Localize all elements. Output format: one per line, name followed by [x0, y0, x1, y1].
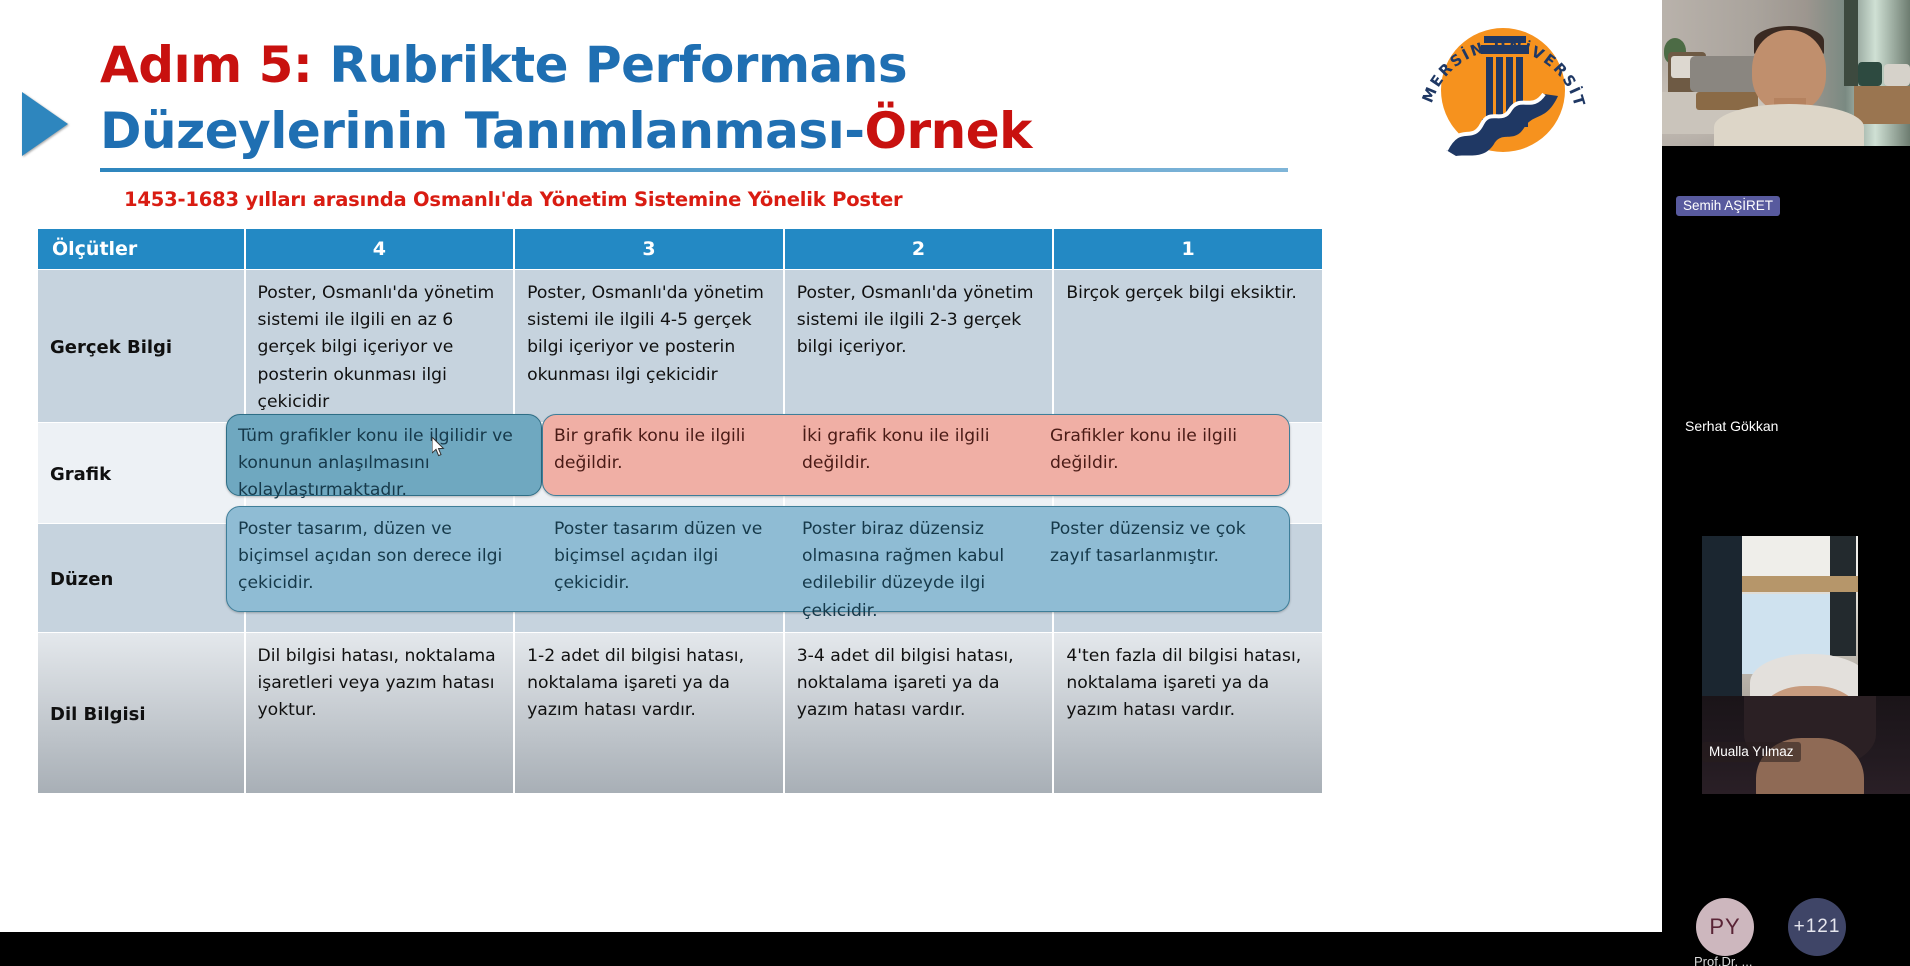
participant-video-rail: Semih AŞİRET Serhat Gökkan — [1662, 0, 1910, 966]
overflow-count-label: +121 — [1794, 916, 1841, 938]
cell-duzen-4 — [246, 524, 514, 632]
participant-avatar-py-label: Prof.Dr. ... — [1694, 954, 1753, 966]
table-row: Grafik — [38, 423, 1322, 523]
participant-video-2 — [1702, 536, 1858, 696]
cell-duzen-1 — [1054, 524, 1322, 632]
column-header-1: 1 — [1054, 229, 1322, 269]
cell-gercek-bilgi-4: Poster, Osmanlı'da yönetim sistemi ile i… — [246, 270, 514, 422]
column-header-4: 4 — [246, 229, 514, 269]
cell-grafik-2 — [785, 423, 1053, 523]
table-row: Dil Bilgisi Dil bilgisi hatası, noktalam… — [38, 633, 1322, 793]
cell-gercek-bilgi-1: Birçok gerçek bilgi eksiktir. — [1054, 270, 1322, 422]
cell-dil-bilgisi-1: 4'ten fazla dil bilgisi hatası, noktalam… — [1054, 633, 1322, 793]
cell-duzen-2 — [785, 524, 1053, 632]
title-segment-red: Adım 5: — [100, 36, 329, 94]
mersin-universitesi-logo-icon: MERSİN ÜNİVERSİTESİ 1992 — [1410, 4, 1596, 174]
column-header-criteria: Ölçütler — [38, 229, 244, 269]
triangle-bullet-icon — [22, 92, 68, 156]
avatar-initials: PY — [1709, 914, 1740, 940]
slide-subtitle: 1453-1683 yılları arasında Osmanlı'da Yö… — [124, 188, 902, 211]
cell-duzen-3 — [515, 524, 783, 632]
page-title: Adım 5: Rubrikte Performans Düzeylerinin… — [100, 32, 1350, 164]
row-criterion-duzen: Düzen — [38, 524, 244, 632]
participant-name-badge-1: Semih AŞİRET — [1676, 196, 1780, 216]
cell-gercek-bilgi-3: Poster, Osmanlı'da yönetim sistemi ile i… — [515, 270, 783, 422]
meeting-screen-share-view: Adım 5: Rubrikte Performans Düzeylerinin… — [0, 0, 1910, 966]
cell-grafik-4 — [246, 423, 514, 523]
title-underline — [100, 168, 1288, 172]
participant-tile-3[interactable]: Mualla Yılmaz — [1662, 696, 1910, 816]
cell-dil-bilgisi-3: 1-2 adet dil bilgisi hatası, noktalama i… — [515, 633, 783, 793]
participant-name-badge-2: Serhat Gökkan — [1678, 416, 1785, 437]
cell-gercek-bilgi-2: Poster, Osmanlı'da yönetim sistemi ile i… — [785, 270, 1053, 422]
row-criterion-grafik: Grafik — [38, 423, 244, 523]
participant-name-badge-3: Mualla Yılmaz — [1702, 742, 1801, 762]
participant-avatar-py[interactable]: PY — [1696, 898, 1754, 956]
slide-title-block: Adım 5: Rubrikte Performans Düzeylerinin… — [0, 10, 1400, 190]
table-row: Gerçek Bilgi Poster, Osmanlı'da yönetim … — [38, 270, 1322, 422]
presentation-slide: Adım 5: Rubrikte Performans Düzeylerinin… — [0, 0, 1662, 932]
table-row: Düzen — [38, 524, 1322, 632]
cell-grafik-3 — [515, 423, 783, 523]
letterbox-bottom — [0, 932, 1662, 966]
row-criterion-dil-bilgisi: Dil Bilgisi — [38, 633, 244, 793]
title-segment-accent: Örnek — [865, 102, 1032, 160]
participant-overflow-count[interactable]: +121 — [1788, 898, 1846, 956]
cell-dil-bilgisi-4: Dil bilgisi hatası, noktalama işaretleri… — [246, 633, 514, 793]
participant-tile-1[interactable]: Semih AŞİRET — [1662, 0, 1910, 230]
table-header-row: Ölçütler 4 3 2 1 — [38, 229, 1322, 269]
column-header-2: 2 — [785, 229, 1053, 269]
rubric-table: Ölçütler 4 3 2 1 Gerçek Bilgi Poster, Os… — [36, 228, 1324, 794]
cell-grafik-1 — [1054, 423, 1322, 523]
participant-video-1 — [1662, 0, 1910, 146]
cell-dil-bilgisi-2: 3-4 adet dil bilgisi hatası, noktalama i… — [785, 633, 1053, 793]
row-criterion-gercek-bilgi: Gerçek Bilgi — [38, 270, 244, 422]
participant-tile-2[interactable]: Serhat Gökkan — [1662, 230, 1910, 490]
column-header-3: 3 — [515, 229, 783, 269]
